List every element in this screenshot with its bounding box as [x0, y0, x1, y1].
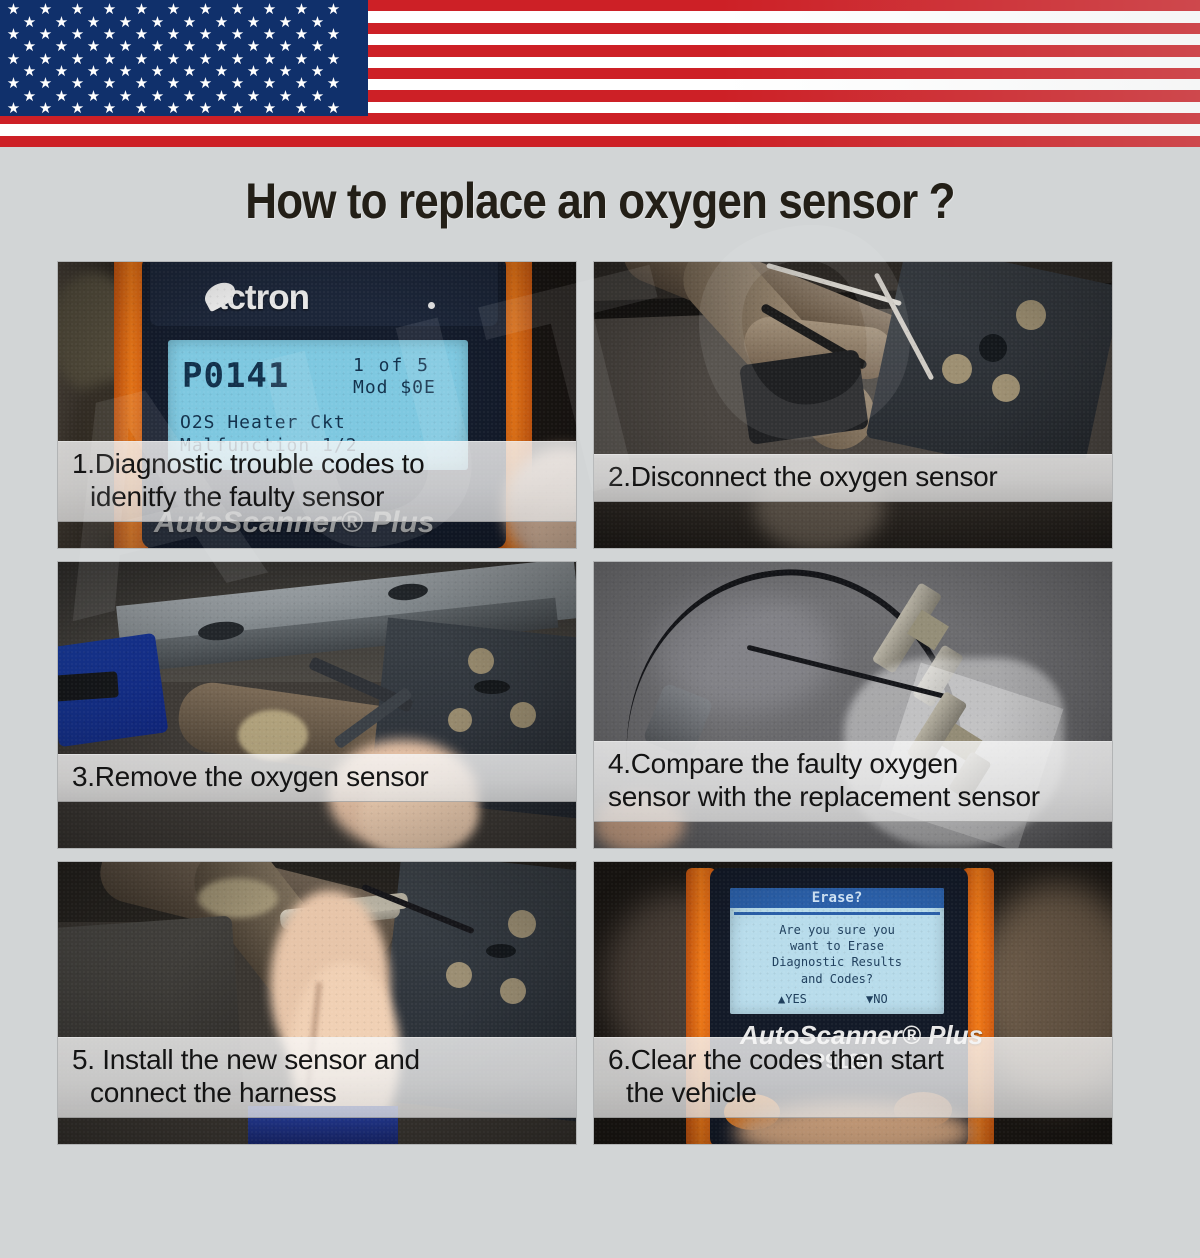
scanner-lcd-6: Erase? Are you sure you want to Erase Di… [730, 888, 944, 1014]
flag-star-icon: ★ [230, 2, 245, 17]
flag-star-icon: ★ [134, 2, 149, 17]
flag-star-icon: ★ [214, 64, 229, 79]
flag-star-icon: ★ [6, 76, 21, 91]
lcd-body-line: Diagnostic Results [730, 954, 944, 970]
flag-star-icon: ★ [310, 15, 325, 30]
flag-star-icon: ★ [166, 2, 181, 17]
flag-star-icon: ★ [54, 39, 69, 54]
flag-star-icon: ★ [294, 27, 309, 42]
flag-star-icon: ★ [198, 101, 213, 116]
flag-star-icon: ★ [86, 15, 101, 30]
flag-star-icon: ★ [54, 64, 69, 79]
flag-star-icon: ★ [214, 39, 229, 54]
flag-star-icon: ★ [150, 39, 165, 54]
flag-star-icon: ★ [150, 15, 165, 30]
flag-stripe [0, 136, 1200, 147]
flag-star-icon: ★ [294, 76, 309, 91]
flag-star-icon: ★ [166, 76, 181, 91]
caption-line: connect the harness [72, 1077, 576, 1109]
lcd-body-line: want to Erase [730, 938, 944, 954]
flag-star-icon: ★ [198, 52, 213, 67]
flag-star-icon: ★ [22, 89, 37, 104]
flag-star-icon: ★ [102, 27, 117, 42]
flag-star-icon: ★ [182, 89, 197, 104]
lcd-title-text: Erase? [730, 890, 944, 906]
lcd-no-option[interactable]: ▼NO [866, 992, 888, 1006]
lcd-fault-line-1: O2S Heater Ckt [180, 412, 346, 433]
flag-star-icon: ★ [310, 39, 325, 54]
flag-star-icon: ★ [86, 64, 101, 79]
flag-star-icon: ★ [70, 27, 85, 42]
flag-star-icon: ★ [182, 15, 197, 30]
flag-star-icon: ★ [150, 64, 165, 79]
flag-star-icon: ★ [278, 64, 293, 79]
caption-line: 2.Disconnect the oxygen sensor [608, 461, 1112, 493]
flag-star-icon: ★ [86, 39, 101, 54]
flag-star-icon: ★ [262, 27, 277, 42]
flag-star-icon: ★ [310, 64, 325, 79]
flag-star-icon: ★ [278, 15, 293, 30]
flag-star-icon: ★ [118, 39, 133, 54]
flag-star-icon: ★ [198, 76, 213, 91]
flag-stripe [0, 124, 1200, 136]
caption-line: 3.Remove the oxygen sensor [72, 761, 576, 793]
flag-star-icon: ★ [246, 39, 261, 54]
flag-star-icon: ★ [230, 52, 245, 67]
flag-star-icon: ★ [230, 76, 245, 91]
flag-star-icon: ★ [150, 89, 165, 104]
flag-star-icon: ★ [294, 52, 309, 67]
flag-star-icon: ★ [38, 52, 53, 67]
lcd-yes-option[interactable]: ▲YES [778, 992, 807, 1006]
step-panel-3[interactable]: 3.Remove the oxygen sensor [58, 562, 576, 848]
flag-star-icon: ★ [262, 101, 277, 116]
step-photo-3 [58, 562, 576, 848]
flag-star-icon: ★ [6, 27, 21, 42]
flag-star-icon: ★ [294, 2, 309, 17]
flag-star-icon: ★ [262, 2, 277, 17]
caption-line: 5. Install the new sensor and [72, 1044, 576, 1076]
lcd-dtc-code: P0141 [182, 356, 289, 396]
flag-canton-stars: ★★★★★★★★★★★★★★★★★★★★★★★★★★★★★★★★★★★★★★★★… [0, 0, 368, 116]
flag-star-icon: ★ [134, 101, 149, 116]
flag-star-icon: ★ [326, 27, 341, 42]
flag-star-icon: ★ [54, 15, 69, 30]
flag-star-icon: ★ [166, 101, 181, 116]
flag-star-icon: ★ [262, 76, 277, 91]
step-panel-6[interactable]: Erase? Are you sure you want to Erase Di… [594, 862, 1112, 1144]
flag-star-icon: ★ [294, 101, 309, 116]
lcd-module: Mod $0E [353, 377, 436, 398]
flag-star-icon: ★ [70, 76, 85, 91]
step-panel-1[interactable]: actron P0141 1 of 5 Mod $0E O2S Heater C… [58, 262, 576, 548]
flag-star-icon: ★ [246, 89, 261, 104]
flag-star-icon: ★ [326, 2, 341, 17]
flag-star-icon: ★ [182, 64, 197, 79]
caption-line: idenitfy the faulty sensor [72, 481, 576, 513]
flag-star-icon: ★ [6, 101, 21, 116]
flag-star-icon: ★ [118, 15, 133, 30]
flag-star-icon: ★ [6, 52, 21, 67]
lcd-code-index: 1 of 5 [353, 355, 430, 376]
steps-grid: actron P0141 1 of 5 Mod $0E O2S Heater C… [58, 262, 1112, 1140]
flag-star-icon: ★ [118, 89, 133, 104]
flag-star-icon: ★ [102, 76, 117, 91]
caption-line: 1.Diagnostic trouble codes to [72, 448, 576, 480]
step-caption-1: 1.Diagnostic trouble codes to idenitfy t… [58, 441, 576, 522]
flag-star-icon: ★ [230, 101, 245, 116]
flag-star-icon: ★ [6, 2, 21, 17]
flag-star-icon: ★ [326, 76, 341, 91]
flag-star-icon: ★ [134, 27, 149, 42]
step-caption-5: 5. Install the new sensor and connect th… [58, 1037, 576, 1118]
flag-star-icon: ★ [246, 64, 261, 79]
flag-star-icon: ★ [166, 52, 181, 67]
flag-star-icon: ★ [262, 52, 277, 67]
flag-star-icon: ★ [70, 2, 85, 17]
step-photo-2 [594, 262, 1112, 548]
flag-star-icon: ★ [326, 52, 341, 67]
caption-line: 4.Compare the faulty oxygen [608, 748, 1112, 780]
caption-line: the vehicle [608, 1077, 1112, 1109]
step-caption-3: 3.Remove the oxygen sensor [58, 754, 576, 802]
flag-star-icon: ★ [38, 76, 53, 91]
flag-star-icon: ★ [198, 2, 213, 17]
page-title: How to replace an oxygen sensor ? [72, 172, 1128, 230]
flag-star-icon: ★ [118, 64, 133, 79]
caption-line: 6.Clear the codes then start [608, 1044, 1112, 1076]
flag-star-icon: ★ [22, 39, 37, 54]
flag-star-icon: ★ [246, 15, 261, 30]
flag-star-icon: ★ [182, 39, 197, 54]
flag-star-icon: ★ [70, 52, 85, 67]
flag-star-icon: ★ [214, 89, 229, 104]
flag-star-icon: ★ [38, 2, 53, 17]
step-caption-6: 6.Clear the codes then start the vehicle [594, 1037, 1112, 1118]
flag-star-icon: ★ [198, 27, 213, 42]
flag-star-icon: ★ [134, 76, 149, 91]
step-caption-4: 4.Compare the faulty oxygen sensor with … [594, 741, 1112, 822]
flag-star-icon: ★ [278, 89, 293, 104]
lcd-body-line: and Codes? [730, 971, 944, 987]
flag-star-icon: ★ [326, 101, 341, 116]
flag-star-icon: ★ [22, 15, 37, 30]
flag-star-icon: ★ [230, 27, 245, 42]
step-panel-4[interactable]: 4.Compare the faulty oxygen sensor with … [594, 562, 1112, 848]
flag-star-icon: ★ [70, 101, 85, 116]
flag-star-icon: ★ [134, 52, 149, 67]
us-flag-banner: ★★★★★★★★★★★★★★★★★★★★★★★★★★★★★★★★★★★★★★★★… [0, 0, 1200, 147]
flag-star-icon: ★ [166, 27, 181, 42]
flag-star-icon: ★ [102, 101, 117, 116]
flag-star-icon: ★ [22, 64, 37, 79]
flag-star-icon: ★ [54, 89, 69, 104]
step-panel-5[interactable]: 5. Install the new sensor and connect th… [58, 862, 576, 1144]
lcd-body-line: Are you sure you [730, 922, 944, 938]
flag-star-icon: ★ [278, 39, 293, 54]
flag-star-icon: ★ [86, 89, 101, 104]
step-caption-2: 2.Disconnect the oxygen sensor [594, 454, 1112, 502]
caption-line: sensor with the replacement sensor [608, 781, 1112, 813]
step-panel-2[interactable]: 2.Disconnect the oxygen sensor [594, 262, 1112, 548]
flag-star-icon: ★ [102, 2, 117, 17]
flag-star-icon: ★ [38, 101, 53, 116]
flag-star-icon: ★ [310, 89, 325, 104]
flag-star-icon: ★ [102, 52, 117, 67]
flag-star-icon: ★ [214, 15, 229, 30]
flag-star-icon: ★ [38, 27, 53, 42]
